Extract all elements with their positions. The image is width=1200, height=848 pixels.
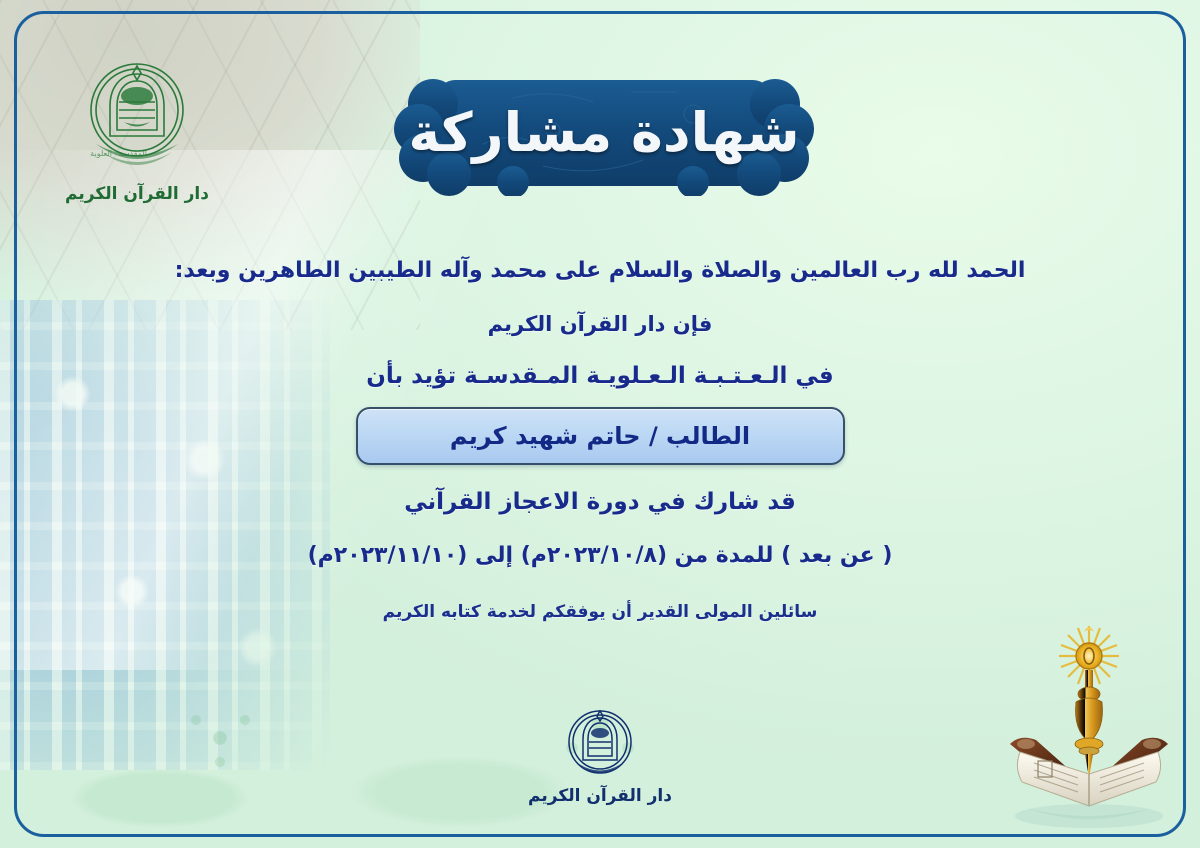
course-line: قد شارك في دورة الاعجاز القرآني xyxy=(0,489,1200,515)
praise-line: الحمد لله رب العالمين والصلاة والسلام عل… xyxy=(0,258,1200,283)
certificate-page: العلوية المقدسة دار القرآن الكريم xyxy=(0,0,1200,848)
recipient-name: الطالب / حاتم شهيد كريم xyxy=(450,422,750,450)
issuer-line: فإن دار القرآن الكريم xyxy=(0,312,1200,336)
header-logo-caption: دار القرآن الكريم xyxy=(62,184,212,204)
dar-al-quran-seal-icon xyxy=(561,706,639,778)
recipient-name-box: الطالب / حاتم شهيد كريم xyxy=(356,407,845,465)
svg-text:العلوية: العلوية xyxy=(90,149,112,158)
svg-text:المقدسة: المقدسة xyxy=(118,149,147,158)
dates-line: ( عن بعد ) للمدة من (٢٠٢٣/١٠/٨م) إلى (٢٠… xyxy=(0,543,1200,568)
quran-ornament xyxy=(996,618,1182,834)
certificate-title: شهادة مشاركة xyxy=(393,74,815,196)
certificate-title-banner: شهادة مشاركة xyxy=(393,74,815,196)
quran-on-rihal-icon xyxy=(996,618,1182,834)
atabah-alawiyah-emblem-icon: العلوية المقدسة xyxy=(72,48,202,188)
issuer-authority-line: في الـعـتـبـة الـعـلويـة المـقدسـة تؤيد … xyxy=(0,363,1200,389)
header-organization-logo: العلوية المقدسة دار القرآن الكريم xyxy=(62,48,212,233)
certificate-body: الحمد لله رب العالمين والصلاة والسلام عل… xyxy=(0,258,1200,622)
